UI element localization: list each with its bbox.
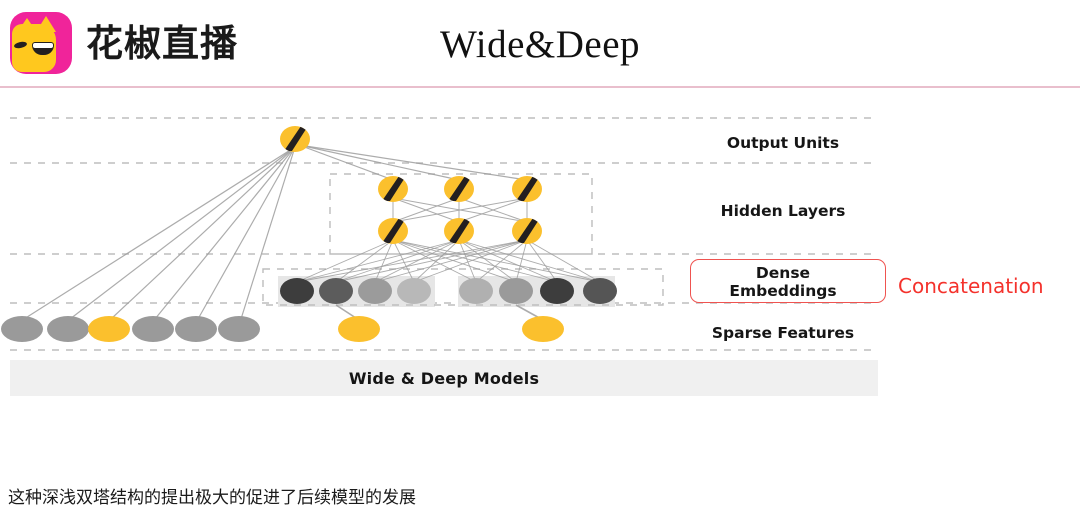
label-output-units: Output Units	[688, 134, 878, 152]
label-dense-line1: Dense	[756, 264, 810, 282]
label-dense-embeddings: Dense Embeddings	[690, 264, 876, 301]
network-graph-svg	[0, 104, 1080, 404]
wide-and-deep-diagram: Output Units Hidden Layers Dense Embeddi…	[0, 104, 1080, 404]
dashed-row-separators	[10, 118, 878, 350]
wide-and-deep-models-bar: Wide & Deep Models	[10, 360, 878, 396]
page-header: 花椒直播 Wide&Deep	[0, 0, 1080, 88]
header-divider	[0, 86, 1080, 88]
concatenation-callout: Concatenation	[898, 274, 1044, 298]
page-title: Wide&Deep	[0, 22, 1080, 67]
footer-note: 这种深浅双塔结构的提出极大的促进了后续模型的发展	[8, 483, 416, 508]
label-hidden-layers: Hidden Layers	[688, 202, 878, 220]
label-sparse-features: Sparse Features	[688, 324, 878, 342]
label-dense-line2: Embeddings	[729, 282, 836, 300]
wide-and-deep-models-label: Wide & Deep Models	[10, 369, 878, 388]
